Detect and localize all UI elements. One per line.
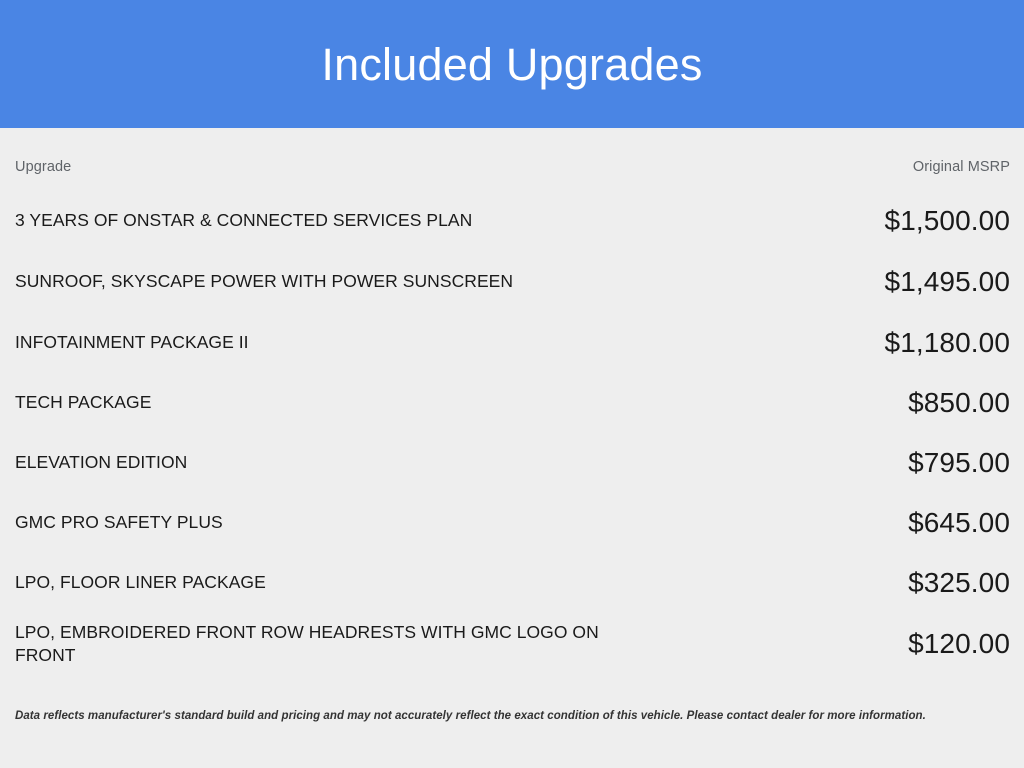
upgrade-name: ELEVATION EDITION bbox=[15, 451, 203, 474]
column-header-upgrade: Upgrade bbox=[15, 159, 71, 175]
upgrade-name: GMC PRO SAFETY PLUS bbox=[15, 511, 239, 534]
included-upgrades-page: Included Upgrades Upgrade Original MSRP … bbox=[0, 0, 1024, 768]
upgrade-name: SUNROOF, SKYSCAPE POWER WITH POWER SUNSC… bbox=[15, 270, 529, 293]
upgrades-table: 3 YEARS OF ONSTAR & CONNECTED SERVICES P… bbox=[15, 191, 1010, 675]
upgrade-price: $645.00 bbox=[908, 509, 1010, 537]
upgrade-price: $1,500.00 bbox=[885, 207, 1010, 235]
column-header-original-msrp: Original MSRP bbox=[913, 159, 1010, 175]
upgrade-price: $850.00 bbox=[908, 389, 1010, 417]
upgrade-price: $1,180.00 bbox=[885, 329, 1010, 357]
table-row: SUNROOF, SKYSCAPE POWER WITH POWER SUNSC… bbox=[15, 251, 1010, 313]
upgrade-name: INFOTAINMENT PACKAGE II bbox=[15, 331, 265, 354]
page-header-banner: Included Upgrades bbox=[0, 0, 1024, 128]
page-title: Included Upgrades bbox=[321, 42, 702, 87]
upgrade-name: LPO, FLOOR LINER PACKAGE bbox=[15, 571, 282, 594]
upgrade-price: $795.00 bbox=[908, 449, 1010, 477]
upgrade-price: $325.00 bbox=[908, 569, 1010, 597]
table-row: GMC PRO SAFETY PLUS $645.00 bbox=[15, 493, 1010, 553]
table-column-headers: Upgrade Original MSRP bbox=[15, 128, 1010, 175]
table-row: ELEVATION EDITION $795.00 bbox=[15, 433, 1010, 493]
upgrade-price: $1,495.00 bbox=[885, 268, 1010, 296]
table-row: INFOTAINMENT PACKAGE II $1,180.00 bbox=[15, 313, 1010, 373]
table-row: LPO, EMBROIDERED FRONT ROW HEADRESTS WIT… bbox=[15, 613, 1010, 675]
table-row: LPO, FLOOR LINER PACKAGE $325.00 bbox=[15, 553, 1010, 613]
upgrades-panel: Upgrade Original MSRP 3 YEARS OF ONSTAR … bbox=[0, 128, 1024, 768]
upgrade-name: LPO, EMBROIDERED FRONT ROW HEADRESTS WIT… bbox=[15, 621, 671, 668]
table-row: TECH PACKAGE $850.00 bbox=[15, 373, 1010, 433]
disclaimer-text: Data reflects manufacturer's standard bu… bbox=[15, 710, 1005, 724]
table-row: 3 YEARS OF ONSTAR & CONNECTED SERVICES P… bbox=[15, 191, 1010, 251]
upgrade-name: TECH PACKAGE bbox=[15, 391, 167, 414]
upgrade-price: $120.00 bbox=[908, 630, 1010, 658]
upgrade-name: 3 YEARS OF ONSTAR & CONNECTED SERVICES P… bbox=[15, 209, 488, 232]
